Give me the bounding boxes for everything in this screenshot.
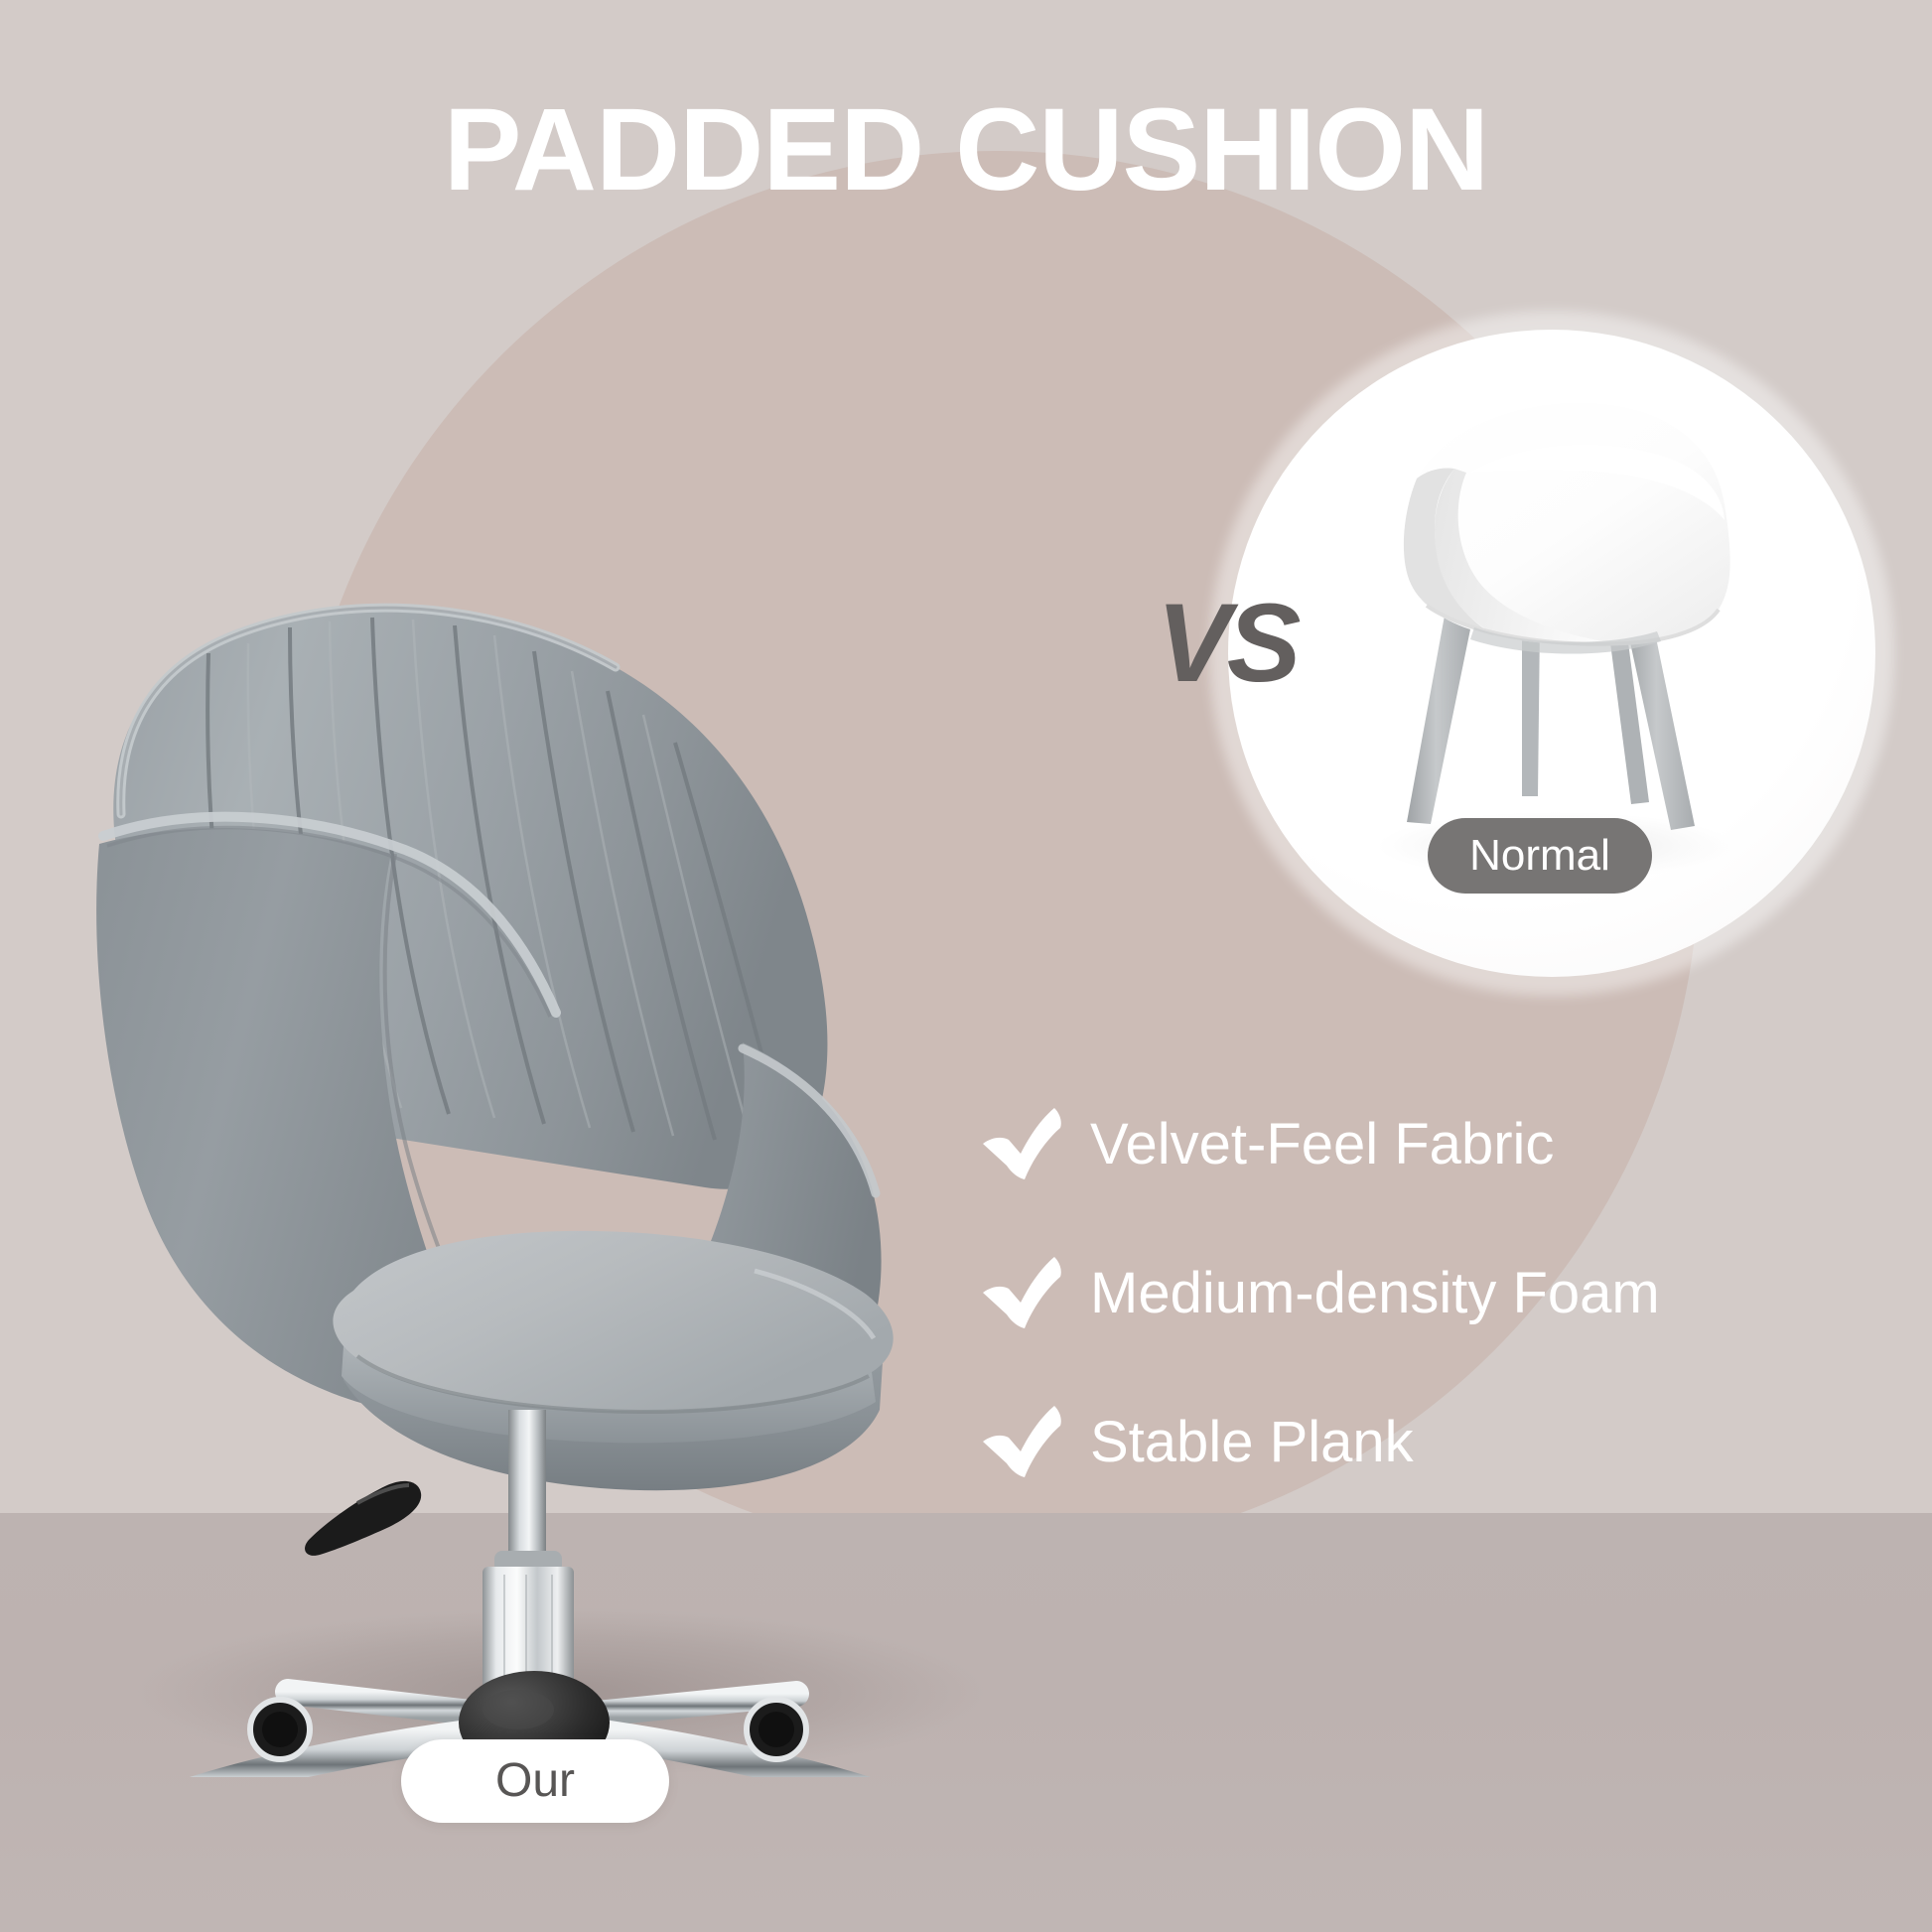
chair-gas-rod [508, 1410, 546, 1559]
feature-item: Medium-density Foam [981, 1251, 1735, 1336]
vs-label: VS [1157, 588, 1297, 699]
product-feature-graphic: PADDED CUSHION [0, 0, 1932, 1932]
feature-list: Velvet-Feel Fabric Medium-density Foam S… [981, 1102, 1735, 1549]
check-icon [981, 1257, 1066, 1330]
feature-item: Stable Plank [981, 1400, 1735, 1485]
feature-label: Stable Plank [1090, 1414, 1414, 1471]
page-title: PADDED CUSHION [0, 91, 1932, 208]
normal-badge: Normal [1428, 818, 1652, 894]
check-icon [981, 1108, 1066, 1181]
check-icon [981, 1406, 1066, 1479]
chair-tilt-lever [305, 1481, 421, 1556]
our-badge-label: Our [495, 1757, 575, 1805]
our-chair-image [60, 486, 1062, 1777]
feature-label: Medium-density Foam [1090, 1265, 1660, 1322]
feature-item: Velvet-Feel Fabric [981, 1102, 1735, 1187]
our-badge: Our [401, 1739, 669, 1823]
feature-label: Velvet-Feel Fabric [1090, 1116, 1554, 1173]
normal-badge-label: Normal [1469, 834, 1610, 878]
